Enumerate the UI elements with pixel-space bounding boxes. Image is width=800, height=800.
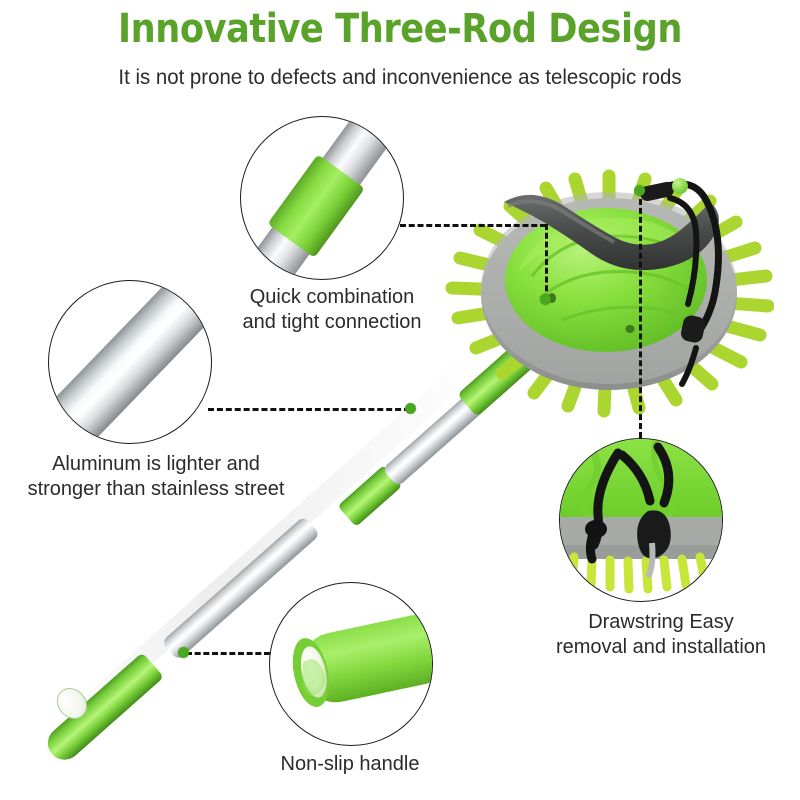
cord-green-nub	[672, 178, 688, 194]
product-infographic: Innovative Three-Rod Design It is not pr…	[0, 0, 800, 800]
callout-circle-quick-combination	[240, 116, 404, 280]
mop-head-art	[444, 168, 774, 418]
mop-head	[444, 168, 774, 418]
callout-circle-aluminum	[48, 280, 212, 444]
anchor-dot-non-slip-handle	[178, 647, 189, 658]
leader-line-quick-combination	[400, 224, 546, 227]
callout-circle-drawstring	[559, 438, 723, 602]
caption-drawstring: Drawstring Easy removal and installation	[515, 610, 800, 660]
anchor-dot-quick-combination	[540, 294, 551, 305]
callout-circle-non-slip-handle	[269, 582, 433, 746]
caption-non-slip-handle: Non-slip handle	[230, 752, 470, 777]
caption-quick-combination: Quick combination and tight connection	[214, 285, 450, 335]
leader-line-drawstring	[639, 190, 642, 438]
anchor-dot-aluminum	[405, 403, 416, 414]
leader-line-quick-combination-vertical	[545, 224, 548, 300]
leader-line-aluminum	[208, 408, 410, 411]
caption-aluminum: Aluminum is lighter and stronger than st…	[6, 452, 306, 502]
leader-line-non-slip-handle	[186, 652, 270, 655]
anchor-dot-drawstring	[634, 185, 645, 196]
